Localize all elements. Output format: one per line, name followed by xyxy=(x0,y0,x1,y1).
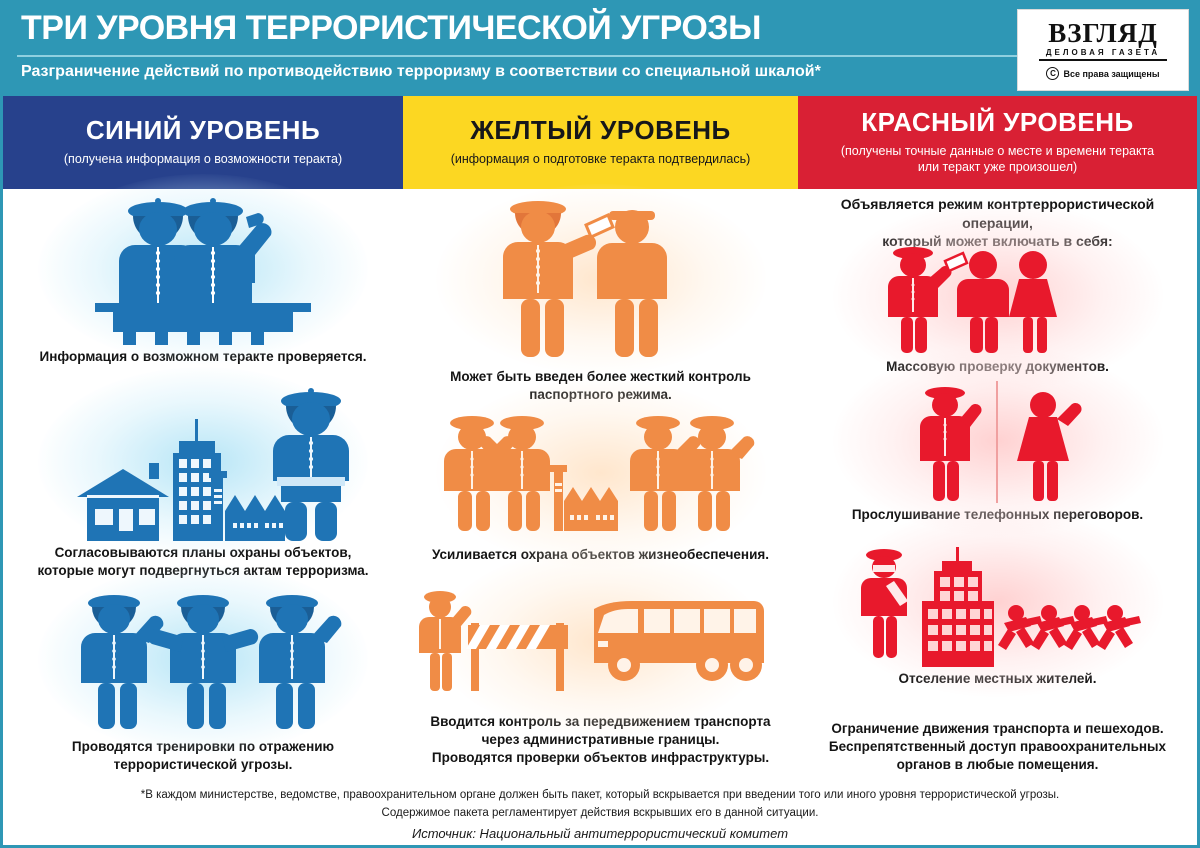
roadblock-and-bus-icon xyxy=(416,585,786,701)
document-check-crowd-icon xyxy=(873,239,1123,355)
red-item-2: Прослушивание телефонных переговоров. xyxy=(798,379,1197,531)
poster-header: ТРИ УРОВНЯ ТЕРРОРИСТИЧЕСКОЙ УГРОЗЫ Разгр… xyxy=(3,3,1197,96)
blue-art-2 xyxy=(3,383,403,541)
level-subtitle-red: (получены точные данные о месте и времен… xyxy=(841,144,1154,175)
level-band-yellow: ЖЕЛТЫЙ УРОВЕНЬ (информация о подготовке … xyxy=(403,96,798,189)
level-subtitle-blue: (получена информация о возможности терак… xyxy=(64,152,342,168)
blue-item-1: Информация о возможном теракте проверяет… xyxy=(3,193,403,383)
red-art-1 xyxy=(798,237,1197,355)
footer-source: Источник: Национальный антитеррористичес… xyxy=(3,826,1197,841)
red-item-1: Массовую проверку документов. xyxy=(798,237,1197,385)
blue-item-3: Проводятся тренировки по отражению терро… xyxy=(3,583,403,783)
city-buildings-and-officer-icon xyxy=(53,385,353,541)
level-band-red: КРАСНЫЙ УРОВЕНЬ (получены точные данные … xyxy=(798,96,1197,189)
blue-caption-1: Информация о возможном теракте проверяет… xyxy=(3,348,403,366)
phone-tapping-icon xyxy=(883,381,1113,503)
yellow-item-2: Усиливается охрана объектов жизнеобеспеч… xyxy=(403,403,798,583)
poster-footer: *В каждом министерстве, ведомстве, право… xyxy=(3,787,1197,845)
yellow-art-1 xyxy=(403,193,798,365)
infographic-poster: ТРИ УРОВНЯ ТЕРРОРИСТИЧЕСКОЙ УГРОЗЫ Разгр… xyxy=(0,0,1200,848)
copyright-text: Все права защищены xyxy=(1063,69,1159,79)
yellow-item-1: Может быть введен более жесткий контроль… xyxy=(403,193,798,403)
blue-art-3 xyxy=(3,583,403,735)
red-item-3: Отселение местных жителей. xyxy=(798,537,1197,697)
footer-note-line-1: *В каждом министерстве, ведомстве, право… xyxy=(3,787,1197,805)
evacuation-building-icon xyxy=(848,539,1148,667)
blue-caption-2: Согласовываются планы охраны объектов, к… xyxy=(3,544,403,580)
yellow-caption-1: Может быть введен более жесткий контроль… xyxy=(403,368,798,404)
level-title-yellow: ЖЕЛТЫЙ УРОВЕНЬ xyxy=(470,117,730,143)
yellow-caption-3: Вводится контроль за передвижением транс… xyxy=(403,713,798,767)
level-title-blue: СИНИЙ УРОВЕНЬ xyxy=(86,117,320,143)
blue-item-2: Согласовываются планы охраны объектов, к… xyxy=(3,383,403,583)
red-caption-2: Прослушивание телефонных переговоров. xyxy=(798,506,1197,524)
red-art-2 xyxy=(798,379,1197,503)
footer-note-line-2: Содержимое пакета регламентирует действи… xyxy=(3,805,1197,823)
red-art-3 xyxy=(798,537,1197,667)
yellow-caption-2: Усиливается охрана объектов жизнеобеспеч… xyxy=(403,546,798,564)
passport-check-icon xyxy=(476,195,726,365)
page-title: ТРИ УРОВНЯ ТЕРРОРИСТИЧЕСКОЙ УГРОЗЫ xyxy=(21,9,761,48)
guarded-facility-icon xyxy=(436,405,766,543)
blue-art-1 xyxy=(3,193,403,345)
logo-tagline: ДЕЛОВАЯ ГАЗЕТА xyxy=(1039,48,1167,61)
logo-wordmark: ВЗГЛЯД xyxy=(1048,20,1158,47)
copyright-icon: C xyxy=(1046,67,1059,80)
red-caption-3: Отселение местных жителей. xyxy=(798,670,1197,688)
level-bands: СИНИЙ УРОВЕНЬ (получена информация о воз… xyxy=(3,96,1197,189)
yellow-item-3: Вводится контроль за передвижением транс… xyxy=(403,583,798,783)
column-yellow: Может быть введен более жесткий контроль… xyxy=(403,189,798,787)
level-band-blue: СИНИЙ УРОВЕНЬ (получена информация о воз… xyxy=(3,96,403,189)
red-caption-1: Массовую проверку документов. xyxy=(798,358,1197,376)
column-blue: Информация о возможном теракте проверяет… xyxy=(3,189,403,787)
header-divider xyxy=(17,55,1017,57)
column-red: Объявляется режим контртеррористической … xyxy=(798,189,1197,787)
yellow-art-2 xyxy=(403,403,798,543)
level-columns: Информация о возможном теракте проверяет… xyxy=(3,189,1197,787)
copyright-notice: C Все права защищены xyxy=(1046,67,1159,80)
page-subtitle: Разграничение действий по противодействи… xyxy=(21,63,821,81)
blue-caption-3: Проводятся тренировки по отражению терро… xyxy=(3,738,403,774)
level-subtitle-yellow: (информация о подготовке теракта подтвер… xyxy=(451,152,751,168)
red-final-note: Ограничение движения транспорта и пешехо… xyxy=(798,720,1197,774)
yellow-art-3 xyxy=(403,583,798,701)
two-officers-at-desk-icon xyxy=(63,195,343,345)
publisher-logo: ВЗГЛЯД ДЕЛОВАЯ ГАЗЕТА C Все права защище… xyxy=(1017,9,1189,91)
three-officers-training-icon xyxy=(58,585,348,735)
level-title-red: КРАСНЫЙ УРОВЕНЬ xyxy=(861,109,1133,135)
